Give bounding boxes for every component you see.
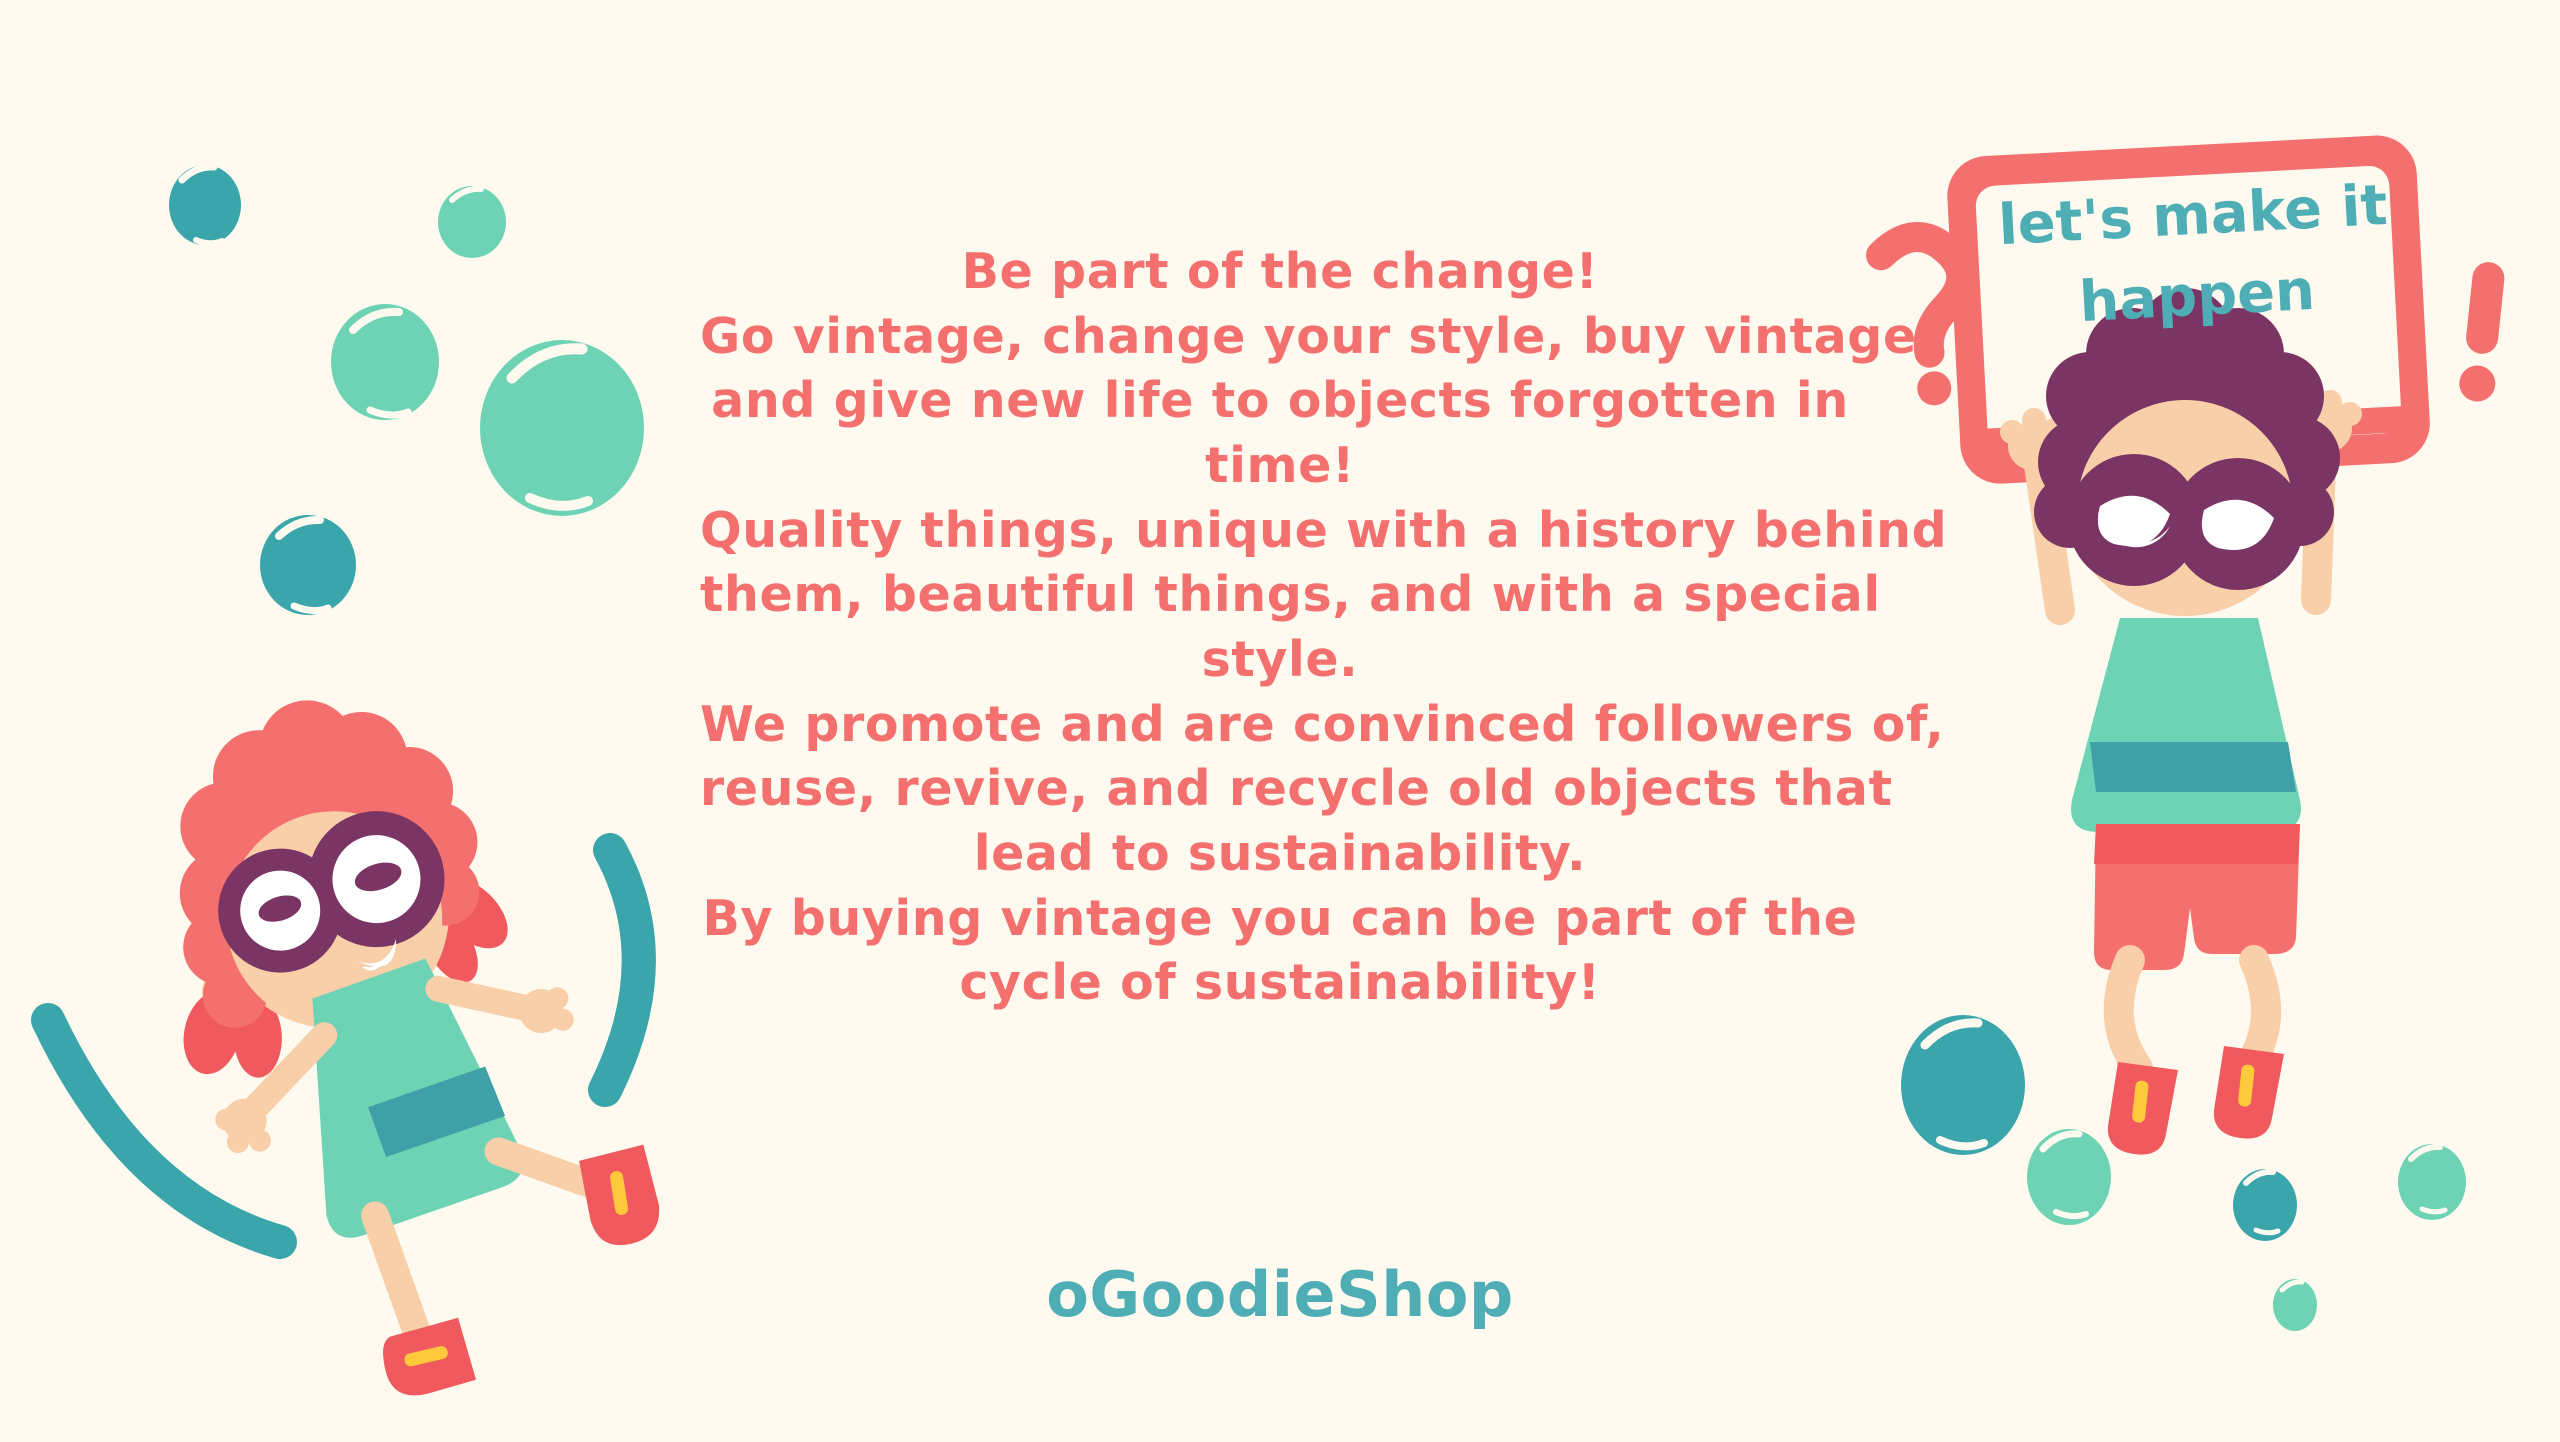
arc-lower-left-of-girl	[48, 1020, 280, 1242]
boy-mask	[2068, 454, 2304, 590]
arc-group	[48, 850, 639, 1242]
bubble-left-3	[331, 304, 439, 420]
bubble-right-3	[2233, 1169, 2297, 1241]
message-line-11: By buying vintage you can be part of the	[700, 887, 1860, 952]
message-line-3: and give new life to objects forgotten i…	[700, 369, 1860, 434]
boy-mouth	[2146, 618, 2238, 658]
message-line-7: style.	[700, 628, 1860, 693]
bubble-left-1	[169, 165, 241, 245]
message-line-6: them, beautiful things, and with a speci…	[700, 563, 1860, 628]
boy-eye-left	[2098, 512, 2170, 547]
boy-shoe-left	[2108, 1062, 2178, 1155]
message-line-5: Quality things, unique with a history be…	[700, 499, 1860, 564]
boy-legs	[2108, 960, 2284, 1155]
message-line-1: Be part of the change!	[700, 240, 1860, 305]
banner-canvas: let's make it happen Be part of the chan…	[0, 0, 2560, 1442]
message-line-10: lead to sustainability.	[700, 822, 1860, 887]
bubble-right-5	[2273, 1279, 2317, 1331]
girl-head	[200, 780, 465, 1045]
girl-mouth	[360, 947, 397, 972]
boy-shorts	[2094, 824, 2300, 970]
message-line-4: time!	[700, 434, 1860, 499]
girl-dress	[289, 948, 531, 1241]
bubble-right-4	[2398, 1144, 2466, 1220]
sign-text: let's make it happen	[1971, 164, 2419, 349]
girl-pigtails	[150, 850, 538, 1093]
message-line-2: Go vintage, change your style, buy vinta…	[700, 305, 1860, 370]
arc-upper-right-of-girl	[605, 850, 639, 1090]
brand-name: oGoodieShop	[880, 1258, 1680, 1331]
bubble-right-1	[1901, 1015, 2025, 1155]
girl-shoe-left	[379, 1317, 477, 1400]
boy-hand-right	[2296, 390, 2362, 452]
boy-hand-left	[2000, 408, 2066, 470]
bubble-group-left	[169, 165, 644, 615]
girl-hair	[148, 677, 504, 1050]
boy-arms	[2000, 390, 2362, 610]
girl-arms	[200, 969, 586, 1158]
boy-shirt	[2071, 618, 2301, 832]
boy-head	[2067, 380, 2303, 616]
girl-legs	[354, 1128, 682, 1400]
boy-shoe-right	[2214, 1046, 2284, 1139]
bubble-right-2	[2027, 1129, 2111, 1225]
bubble-left-2	[438, 186, 506, 258]
boy-eye-right	[2202, 500, 2274, 550]
message-line-9: reuse, revive, and recycle old objects t…	[700, 757, 1860, 822]
exclamation-mark-icon	[2458, 260, 2508, 403]
girl-mask	[206, 801, 456, 981]
girl-pupil-left	[255, 891, 304, 927]
girl-pupil-right	[351, 857, 405, 896]
bubble-left-4	[480, 340, 644, 516]
main-message: Be part of the change! Go vintage, chang…	[700, 240, 1860, 1016]
sign-grip-bars	[1960, 405, 2421, 456]
message-line-12: cycle of sustainability!	[700, 951, 1860, 1016]
bubble-left-5	[260, 515, 356, 615]
bubble-group-right	[1901, 1015, 2466, 1331]
message-line-8: We promote and are convinced followers o…	[700, 693, 1860, 758]
girl-shoe-right	[578, 1144, 664, 1250]
